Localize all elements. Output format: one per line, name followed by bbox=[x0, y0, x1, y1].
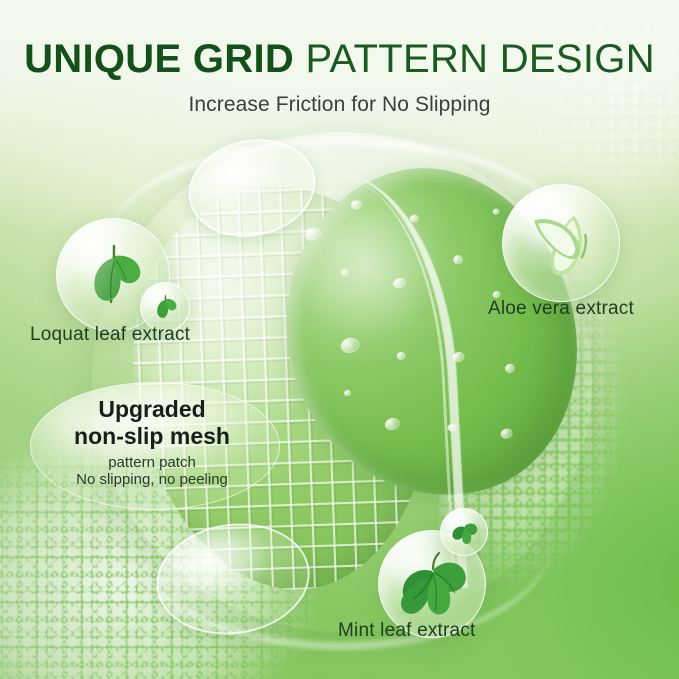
headline-emphasis: UNIQUE GRID bbox=[24, 37, 294, 81]
ingredient-label-aloe: Aloe vera extract bbox=[488, 298, 634, 320]
header: UNIQUE GRID PATTERN DESIGN Increase Fric… bbox=[0, 38, 679, 117]
loquat-leaf-icon-small bbox=[147, 289, 183, 325]
product-marketing-image: UNIQUE GRID PATTERN DESIGN Increase Fric… bbox=[0, 0, 679, 679]
callout-subtitle-line1: pattern patch bbox=[46, 454, 258, 471]
mint-leaf-icon-small bbox=[447, 515, 481, 549]
headline-rest: PATTERN DESIGN bbox=[294, 37, 655, 81]
callout-title-line2: non-slip mesh bbox=[46, 423, 258, 450]
callout-title-line1: Upgraded bbox=[46, 396, 258, 423]
ingredient-badge-mint-small bbox=[440, 508, 488, 556]
aloe-slice-icon bbox=[515, 197, 607, 289]
ingredient-label-loquat: Loquat leaf extract bbox=[30, 324, 190, 346]
feature-callout: Upgraded non-slip mesh pattern patch No … bbox=[46, 396, 258, 490]
callout-subtitle-line2: No slipping, no peeling bbox=[46, 471, 258, 490]
ingredient-label-mint: Mint leaf extract bbox=[338, 620, 476, 642]
page-title: UNIQUE GRID PATTERN DESIGN bbox=[0, 38, 679, 80]
page-subtitle: Increase Friction for No Slipping bbox=[0, 93, 679, 117]
ingredient-badge-aloe bbox=[502, 184, 620, 302]
